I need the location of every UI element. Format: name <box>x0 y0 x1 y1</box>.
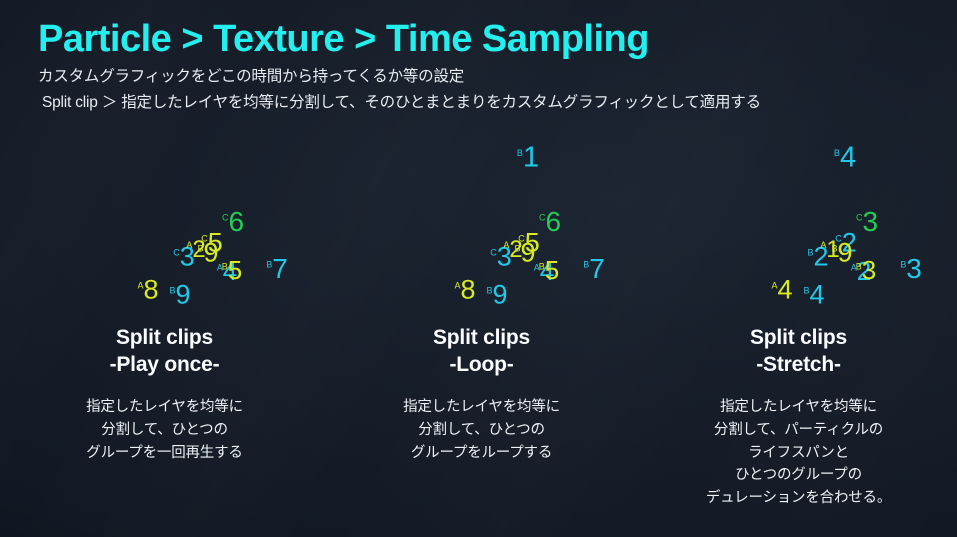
particle-number: A4 <box>771 277 792 304</box>
particle-index-value: 8 <box>143 275 158 305</box>
particle-number: B7 <box>583 255 605 283</box>
caption-body-line: 分割して、パーティクルの <box>639 419 957 442</box>
caption-body-line: 指定したレイヤを均等に <box>322 396 641 419</box>
particle-number: C3 <box>856 208 878 236</box>
particle-index-value: 3 <box>862 206 878 237</box>
particle-number: B9 <box>197 240 218 267</box>
particle-number: B5 <box>222 257 242 283</box>
particle-index-value: 4 <box>809 280 824 310</box>
caption-title: Split clips -Loop- <box>322 325 641 379</box>
particle-number: B5 <box>539 257 559 283</box>
column-loop: B1C6C5C3A2B9A4B5B7A8B9 Split clips -Loop… <box>322 140 641 464</box>
caption-title-line-2: -Loop- <box>322 352 641 379</box>
particle-index-value: 5 <box>228 255 242 285</box>
particle-index-value: 4 <box>777 275 792 305</box>
caption-body: 指定したレイヤを均等に分割して、ひとつのグループを一回再生する <box>5 396 324 465</box>
particle-number: B4 <box>803 282 824 309</box>
caption-title-line-1: Split clips <box>639 325 957 352</box>
particle-number: C6 <box>222 208 244 236</box>
caption-body-line: 指定したレイヤを均等に <box>5 396 324 419</box>
particle-index-value: 3 <box>906 253 922 284</box>
subtitle-line-1: カスタムグラフィックをどこの時間から持ってくるか等の設定 <box>38 64 464 86</box>
caption-body-line: ひとつのグループの <box>639 464 957 487</box>
particle-number: B9 <box>169 282 190 309</box>
caption-body: 指定したレイヤを均等に分割して、パーティクルのライフスパンとひとつのグループのデ… <box>639 396 957 511</box>
caption-title-line-2: -Stretch- <box>639 352 957 379</box>
particle-index-value: 9 <box>492 280 507 310</box>
caption-body: 指定したレイヤを均等に分割して、ひとつのグループをループする <box>322 396 641 465</box>
caption-body-line: デュレーションを合わせる。 <box>639 487 957 510</box>
particle-number: B7 <box>266 255 288 283</box>
particle-field: C6C5C3A2B9A4B5B7A8B9 <box>5 140 324 325</box>
particle-index-value: 9 <box>175 280 190 310</box>
page-title: Particle > Texture > Time Sampling <box>38 18 649 61</box>
caption-title: Split clips -Play once- <box>5 325 324 379</box>
particle-number: B9 <box>514 240 535 267</box>
subtitle-line-2: Split clip ＞ 指定したレイヤを均等に分割して、そのひとまとまりをカス… <box>42 90 761 112</box>
particle-number: B1 <box>517 144 539 173</box>
caption-body-line: 指定したレイヤを均等に <box>639 396 957 419</box>
particle-number: C6 <box>539 208 561 236</box>
caption-body-line: グループをループする <box>322 442 641 465</box>
particle-index-value: 3 <box>862 255 876 285</box>
column-stretch: B4C3C2B2A1B9A2B3B3A4B4 Split clips -Stre… <box>639 140 957 510</box>
particle-field: B4C3C2B2A1B9A2B3B3A4B4 <box>639 140 957 325</box>
caption-title-line-2: -Play once- <box>5 352 324 379</box>
particle-field: B1C6C5C3A2B9A4B5B7A8B9 <box>322 140 641 325</box>
caption-title-line-1: Split clips <box>322 325 641 352</box>
particle-index-value: 8 <box>460 275 475 305</box>
particle-number: A8 <box>454 277 475 304</box>
caption-body-line: 分割して、ひとつの <box>322 419 641 442</box>
caption-body-line: 分割して、ひとつの <box>5 419 324 442</box>
particle-number: B3 <box>900 255 922 283</box>
slide-root: Particle > Texture > Time Sampling カスタムグ… <box>0 0 957 537</box>
particle-number: B4 <box>834 144 856 173</box>
caption-body-line: グループを一回再生する <box>5 442 324 465</box>
particle-number: A8 <box>137 277 158 304</box>
caption-body-line: ライフスパンと <box>639 442 957 465</box>
particle-index-value: 4 <box>840 142 856 174</box>
particle-index-value: 6 <box>228 206 244 237</box>
caption-title-line-1: Split clips <box>5 325 324 352</box>
particle-index-value: 1 <box>523 142 539 174</box>
particle-index-value: 7 <box>589 253 605 284</box>
particle-index-value: 5 <box>545 255 559 285</box>
caption-title: Split clips -Stretch- <box>639 325 957 379</box>
particle-number: B9 <box>831 240 852 267</box>
particle-number: B9 <box>486 282 507 309</box>
particle-number: B3 <box>856 257 876 283</box>
particle-index-value: 6 <box>545 206 561 237</box>
particle-index-value: 7 <box>272 253 288 284</box>
column-play-once: C6C5C3A2B9A4B5B7A8B9 Split clips -Play o… <box>5 140 324 464</box>
